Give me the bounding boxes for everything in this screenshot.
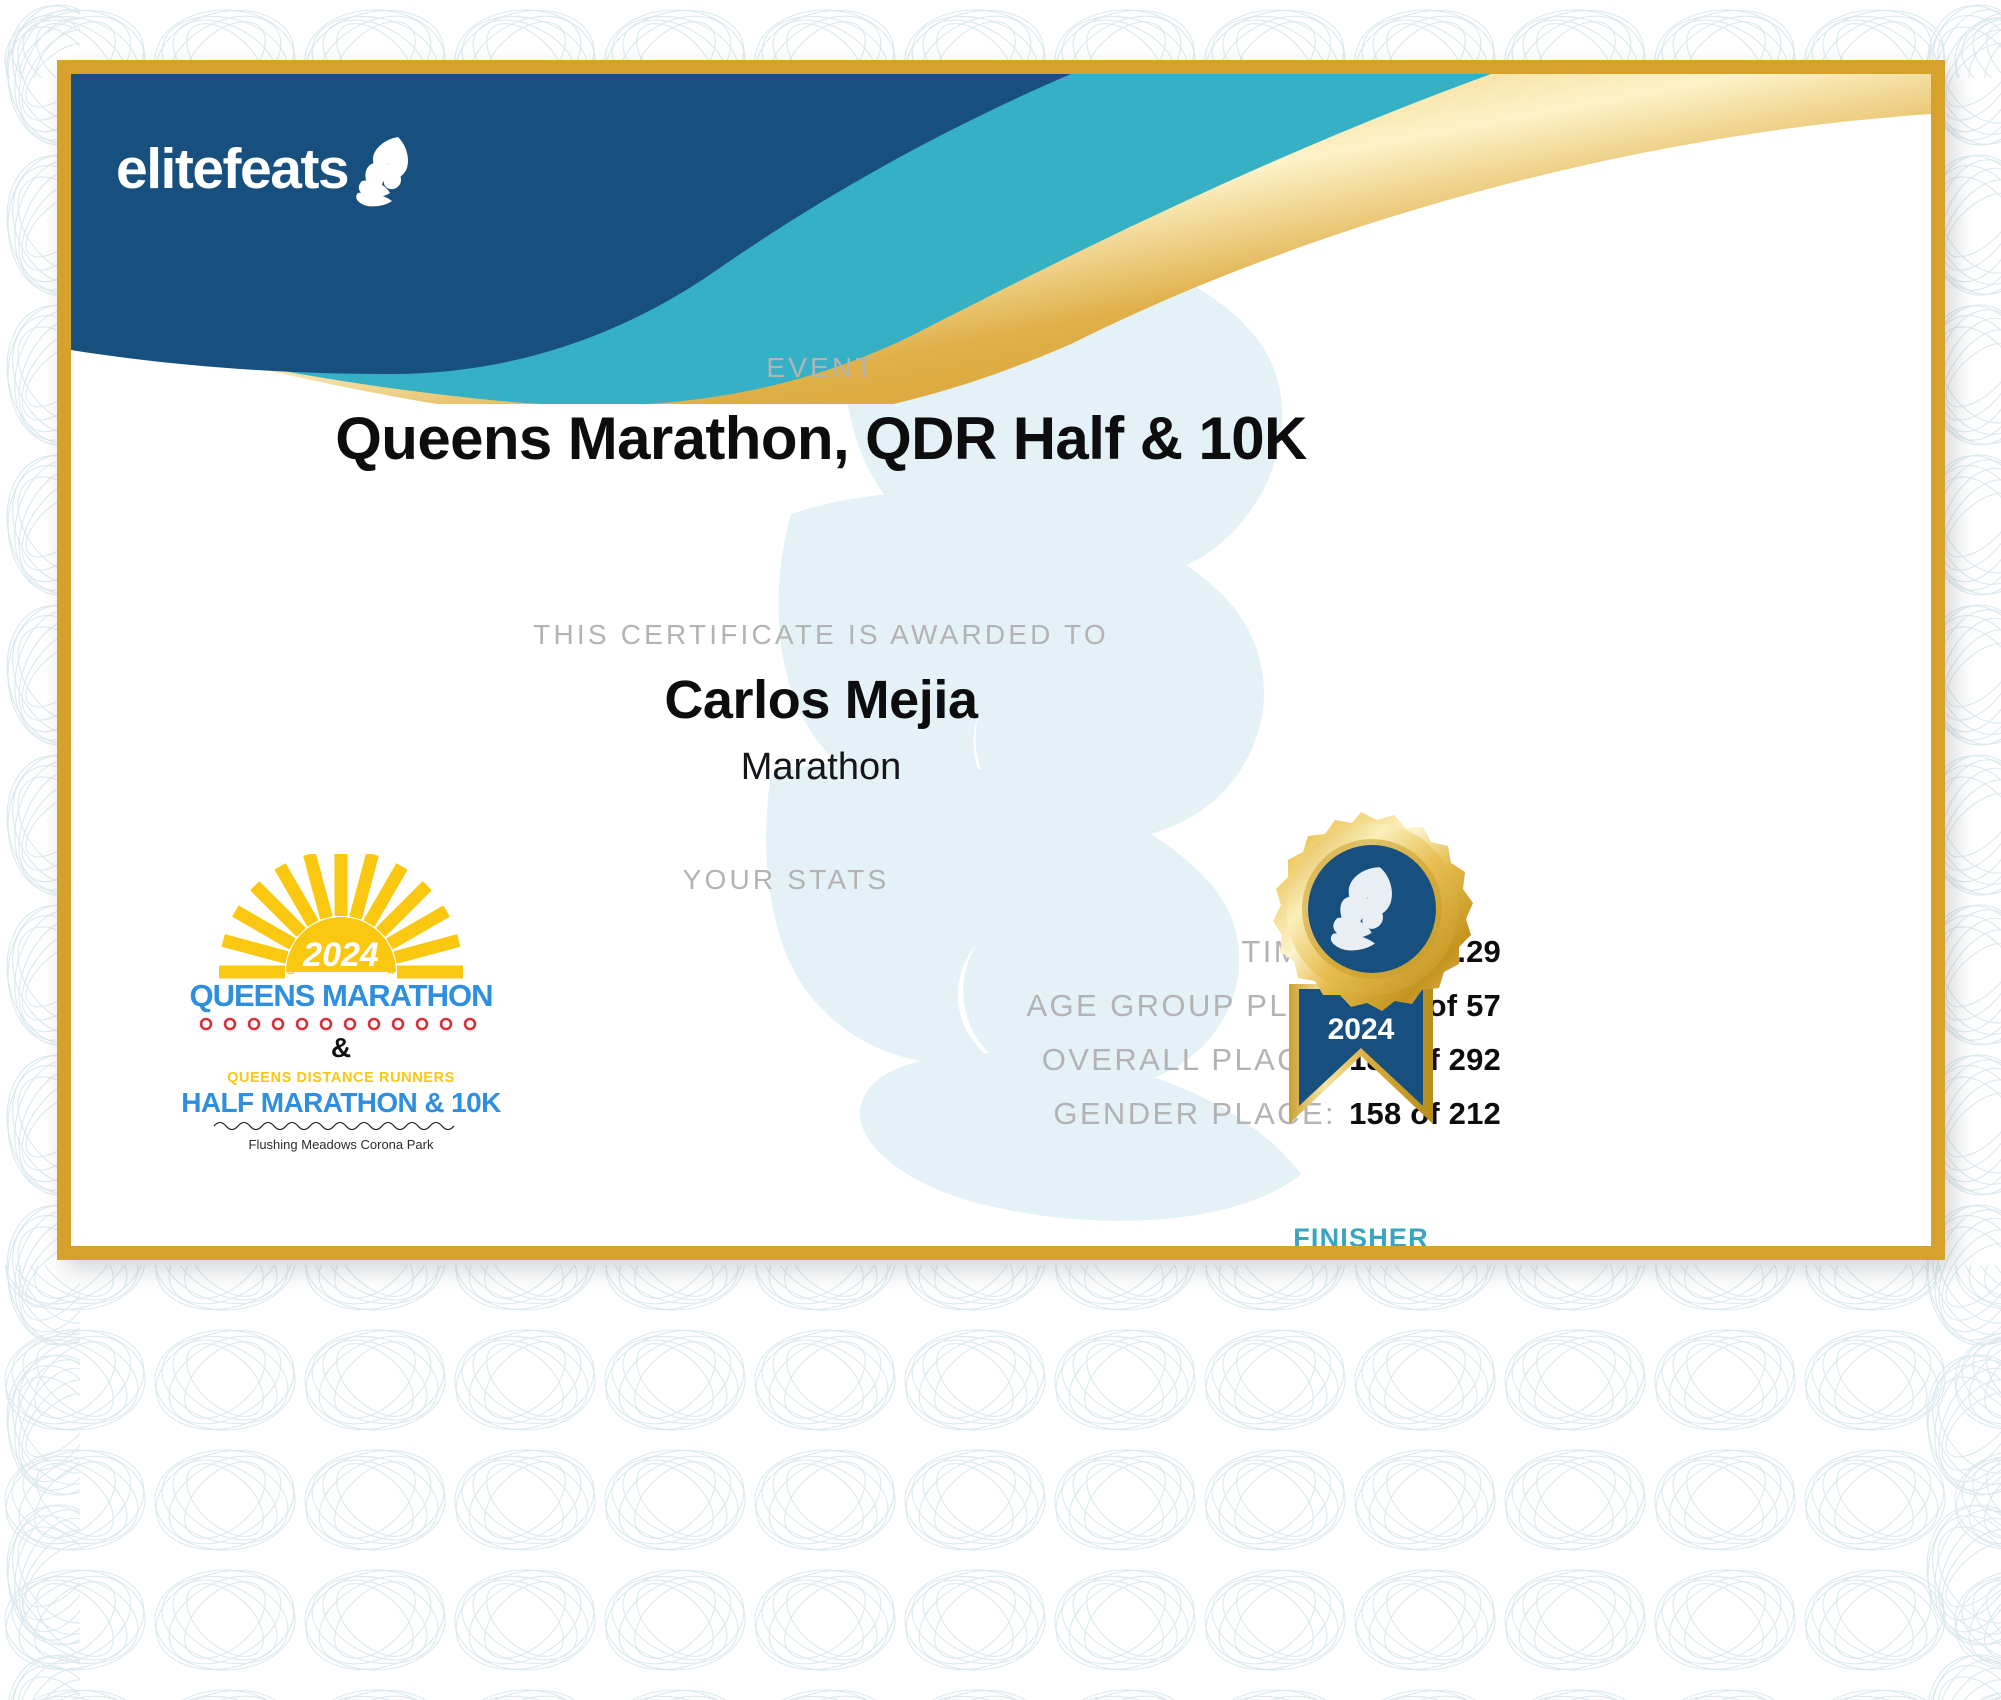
finisher-caption-line2: CERTIFICATE xyxy=(1211,1253,1511,1260)
race-logo-venue: Flushing Meadows Corona Park xyxy=(249,1137,434,1152)
finisher-caption-line1: FINISHER xyxy=(1211,1223,1511,1253)
race-logo-line3: HALF MARATHON & 10K xyxy=(181,1087,501,1118)
medal-ribbon-year: 2024 xyxy=(1328,1013,1395,1046)
race-logo-line2: QUEENS DISTANCE RUNNERS xyxy=(227,1070,455,1086)
recipient-division: Marathon xyxy=(71,746,1571,789)
race-logo-ampersand: & xyxy=(331,1032,351,1063)
race-event-logo: QUEENS DISTANCE RUNNERS 2024 QUEENS MARA… xyxy=(176,854,506,1154)
race-logo-line1: QUEENS MARATHON xyxy=(189,978,492,1013)
winged-foot-icon xyxy=(352,135,424,209)
medal-disc xyxy=(1273,812,1473,1011)
brand-wordmark: elitefeats xyxy=(116,136,348,202)
medal-graphic: 2024 xyxy=(1211,794,1511,1214)
race-logo-year: 2024 xyxy=(302,936,379,974)
medal-ribbon: 2024 xyxy=(1289,984,1433,1124)
finisher-medal: 2024 xyxy=(1211,794,1511,1260)
brand-logo: elitefeats xyxy=(116,129,424,209)
event-label: EVENT xyxy=(71,352,1571,384)
awarded-to-label: THIS CERTIFICATE IS AWARDED TO xyxy=(71,619,1571,651)
race-logo-wave-divider xyxy=(214,1123,454,1130)
finisher-caption: FINISHER CERTIFICATE xyxy=(1211,1223,1511,1260)
certificate-card: elitefeats EVENT Queens Marathon, QDR Ha… xyxy=(57,60,1945,1260)
event-title: Queens Marathon, QDR Half & 10K xyxy=(71,404,1571,473)
certificate-body: EVENT Queens Marathon, QDR Half & 10K TH… xyxy=(71,74,1931,1246)
recipient-name: Carlos Mejia xyxy=(71,669,1571,731)
